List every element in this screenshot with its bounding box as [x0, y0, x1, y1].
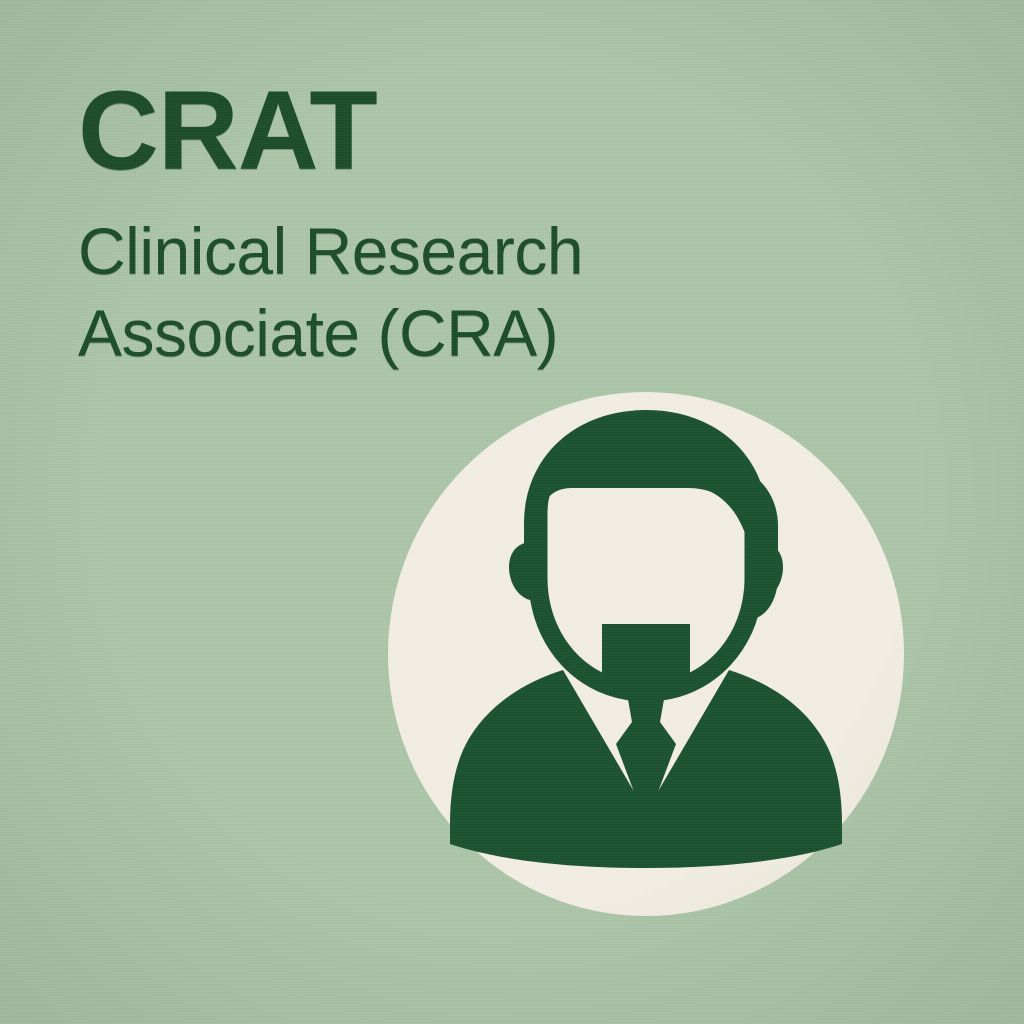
- subtitle: Clinical Research Associate (CRA): [78, 211, 583, 375]
- businessman-avatar-icon: [388, 392, 904, 916]
- crat-card: CRAT Clinical Research Associate (CRA): [0, 0, 1024, 1024]
- subtitle-line-2: Associate (CRA): [78, 293, 583, 375]
- subtitle-line-1: Clinical Research: [78, 211, 583, 293]
- avatar: [388, 392, 904, 916]
- page-title: CRAT: [78, 78, 583, 183]
- text-block: CRAT Clinical Research Associate (CRA): [78, 78, 583, 375]
